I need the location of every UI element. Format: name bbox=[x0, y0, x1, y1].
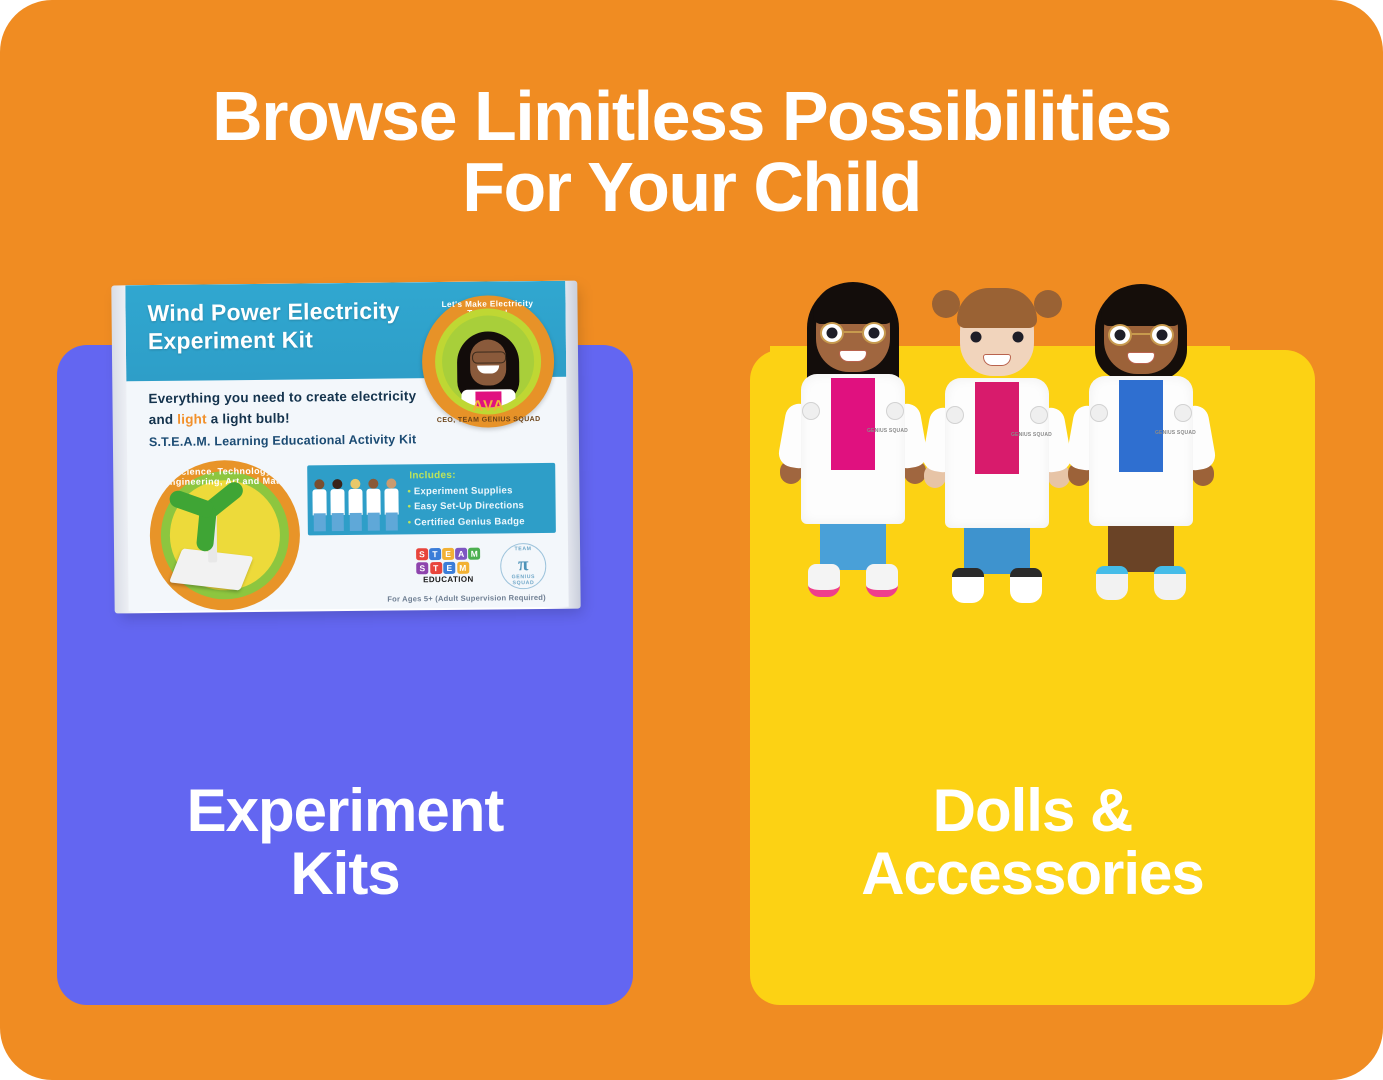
kid-figure bbox=[311, 479, 328, 533]
includes-item: Easy Set-Up Directions bbox=[408, 498, 525, 515]
doll-shoe bbox=[1010, 568, 1042, 603]
box-front-face: Wind Power Electricity Experiment Kit Ev… bbox=[125, 281, 568, 612]
kid-legs bbox=[368, 513, 380, 531]
doll-glasses-bridge bbox=[844, 331, 862, 333]
logo-block: E bbox=[443, 561, 455, 573]
kid-legs bbox=[314, 513, 326, 531]
logo-block: A bbox=[455, 548, 467, 560]
steam-education-logo: S T E A M S T E M EDUCATION bbox=[416, 548, 480, 585]
doll-glasses-icon bbox=[1108, 324, 1174, 346]
box-includes-panel: Includes: Experiment Supplies Easy Set-U… bbox=[307, 463, 556, 536]
kid-head bbox=[386, 478, 396, 488]
logo-block: T bbox=[430, 562, 442, 574]
experiment-kit-box-image: Wind Power Electricity Experiment Kit Ev… bbox=[111, 279, 584, 619]
doll-shoe bbox=[866, 564, 898, 597]
doll-lens bbox=[1108, 324, 1132, 346]
doll-smile bbox=[839, 350, 867, 362]
plush-doll: GENIUS SQUAD bbox=[778, 278, 928, 608]
box-tagline: Everything you need to create electricit… bbox=[148, 386, 448, 431]
kid-coat bbox=[348, 489, 362, 515]
doll-shirt bbox=[1119, 380, 1163, 472]
logo-block: M bbox=[457, 561, 469, 573]
category-label-line-1: Dolls & bbox=[750, 779, 1315, 842]
doll-smile bbox=[1127, 352, 1155, 364]
kid-head bbox=[350, 479, 360, 489]
doll-badge bbox=[886, 402, 904, 420]
doll-eyes-group bbox=[964, 326, 1030, 348]
doll-lens bbox=[964, 326, 988, 348]
doll-badge bbox=[802, 402, 820, 420]
page-title-line-1: Browse Limitless Possibilities bbox=[0, 81, 1383, 152]
box-tagline-part-2: and bbox=[149, 412, 174, 427]
doll-hair-top bbox=[813, 284, 893, 324]
category-label-line-2: Kits bbox=[57, 842, 633, 905]
kid-head bbox=[368, 479, 378, 489]
doll-badge bbox=[1090, 404, 1108, 422]
kid-figure bbox=[365, 479, 382, 533]
doll-coat-tag: GENIUS SQUAD bbox=[867, 428, 908, 435]
kid-figure bbox=[347, 479, 364, 533]
doll-glasses-icon bbox=[820, 322, 886, 344]
box-title-line-1: Wind Power Electricity bbox=[147, 296, 467, 327]
doll-hair-bun bbox=[932, 290, 960, 318]
doll-hair-top bbox=[957, 288, 1037, 328]
box-includes-title: Includes: bbox=[409, 470, 456, 481]
doll-badge bbox=[1030, 406, 1048, 424]
kid-figure bbox=[383, 478, 400, 532]
doll-eye bbox=[1013, 332, 1024, 343]
ceo-badge-ring-inner bbox=[442, 315, 535, 408]
page-title-line-2: For Your Child bbox=[0, 152, 1383, 223]
seal-bottom-text: GENIUS SQUAD bbox=[501, 574, 545, 586]
seal-top-text: TEAM bbox=[501, 546, 545, 552]
ceo-badge-name: AVA bbox=[422, 397, 554, 415]
kids-illustration bbox=[311, 472, 406, 533]
doll-coat-tag: GENIUS SQUAD bbox=[1155, 430, 1196, 437]
doll-glasses-bridge bbox=[1132, 333, 1150, 335]
doll-lens bbox=[820, 322, 844, 344]
doll-eye bbox=[827, 328, 838, 339]
doll-smile bbox=[983, 354, 1011, 366]
logo-block: M bbox=[468, 548, 480, 560]
doll-shoe bbox=[952, 568, 984, 603]
includes-item: Experiment Supplies bbox=[407, 483, 524, 500]
category-label-dolls-accessories: Dolls & Accessories bbox=[750, 779, 1315, 905]
doll-lens bbox=[862, 322, 886, 344]
kid-legs bbox=[332, 513, 344, 531]
box-tagline-highlight: light bbox=[177, 411, 207, 426]
logo-block: E bbox=[442, 548, 454, 560]
doll-shoe bbox=[1154, 566, 1186, 600]
steam-circle-graphic: Science, Technology, Engineering, Art an… bbox=[149, 460, 301, 612]
doll-hair-bun bbox=[1034, 290, 1062, 318]
dolls-product-image: GENIUS SQUAD GENIUS SQUAD bbox=[770, 272, 1230, 622]
doll-shirt bbox=[831, 378, 875, 470]
kid-figure bbox=[329, 479, 346, 533]
doll-eye bbox=[971, 332, 982, 343]
page-title: Browse Limitless Possibilities For Your … bbox=[0, 81, 1383, 224]
logo-block: T bbox=[429, 548, 441, 560]
steam-logo-caption: EDUCATION bbox=[416, 575, 480, 585]
genius-squad-seal: TEAM π GENIUS SQUAD bbox=[500, 543, 546, 589]
kid-head bbox=[332, 479, 342, 489]
category-label-line-1: Experiment bbox=[57, 779, 633, 842]
turbine-blades-icon bbox=[175, 480, 252, 539]
doll-eye bbox=[1115, 330, 1126, 341]
doll-badge bbox=[1174, 404, 1192, 422]
promo-banner: Browse Limitless Possibilities For Your … bbox=[0, 0, 1383, 1080]
kid-head bbox=[314, 479, 324, 489]
doll-eye bbox=[1157, 330, 1168, 341]
kid-coat bbox=[312, 489, 326, 515]
category-label-line-2: Accessories bbox=[750, 842, 1315, 905]
doll-badge bbox=[946, 406, 964, 424]
box-product-title: Wind Power Electricity Experiment Kit bbox=[147, 296, 468, 355]
doll-hair-top bbox=[1101, 286, 1181, 326]
logo-block: S bbox=[416, 562, 428, 574]
includes-item: Certified Genius Badge bbox=[408, 514, 525, 531]
doll-shoe bbox=[808, 564, 840, 597]
steam-logo-row-2: S T E M bbox=[416, 561, 480, 574]
steam-logo-row-1: S T E A M bbox=[416, 548, 480, 561]
plush-doll: GENIUS SQUAD bbox=[1066, 280, 1216, 610]
kid-coat bbox=[384, 488, 398, 514]
box-tagline-part-3: a light bulb! bbox=[211, 411, 290, 427]
kid-coat bbox=[330, 489, 344, 515]
box-tagline-part-1: Everything you need to create electricit… bbox=[148, 388, 416, 406]
doll-shirt bbox=[975, 382, 1019, 474]
kid-legs bbox=[350, 513, 362, 531]
ceo-badge: Let's Make Electricity Together! AVA CEO… bbox=[421, 295, 554, 428]
box-includes-list: Experiment Supplies Easy Set-Up Directio… bbox=[407, 483, 524, 530]
doll-lens bbox=[1150, 324, 1174, 346]
doll-lens bbox=[1006, 326, 1030, 348]
ceo-glasses-icon bbox=[472, 351, 506, 363]
ceo-badge-bottom-text: CEO, TEAM GENIUS SQUAD bbox=[423, 416, 555, 424]
kid-legs bbox=[386, 512, 398, 530]
category-label-experiment-kits: Experiment Kits bbox=[57, 779, 633, 905]
box-title-line-2: Experiment Kit bbox=[148, 324, 468, 355]
box-age-note: For Ages 5+ (Adult Supervision Required) bbox=[365, 593, 569, 604]
kid-coat bbox=[366, 489, 380, 515]
doll-shoe bbox=[1096, 566, 1128, 600]
plush-doll: GENIUS SQUAD bbox=[922, 282, 1072, 612]
logo-block: S bbox=[416, 548, 428, 560]
doll-coat-tag: GENIUS SQUAD bbox=[1011, 432, 1052, 439]
doll-eye bbox=[869, 328, 880, 339]
box-subtitle: S.T.E.A.M. Learning Educational Activity… bbox=[149, 432, 489, 450]
